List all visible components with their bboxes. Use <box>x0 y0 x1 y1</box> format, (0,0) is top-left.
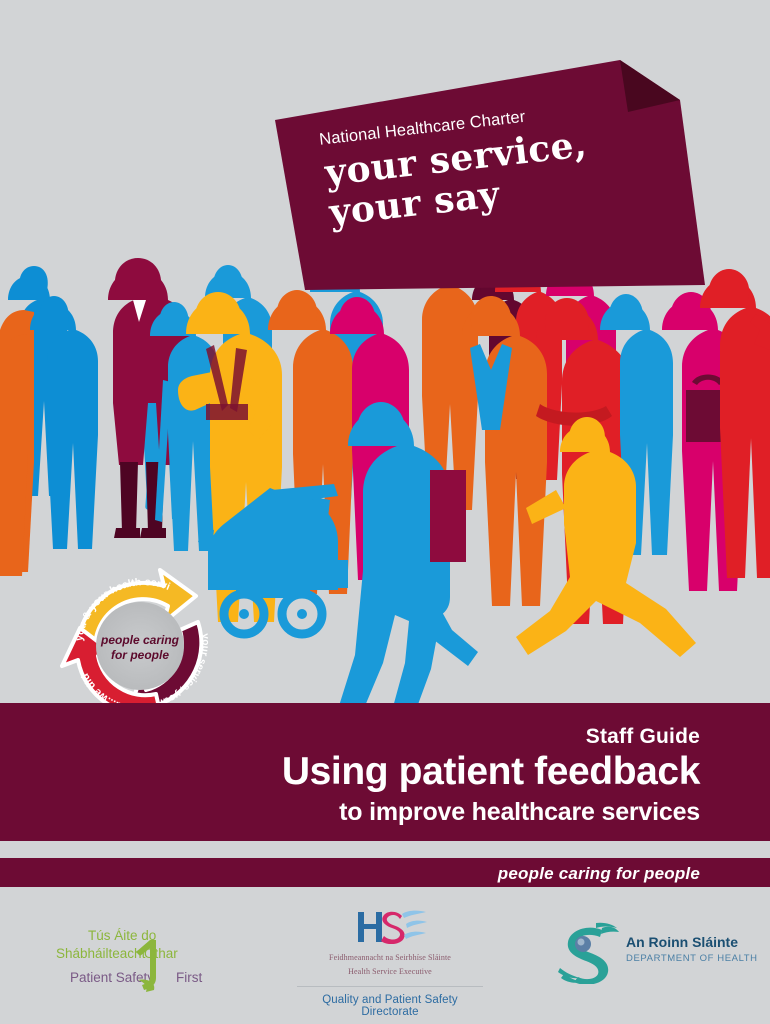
department-of-health-logo: An Roinn Sláinte DEPARTMENT OF HEALTH <box>558 920 748 990</box>
footer-logos: Tús Áite do Shábháilteacht Othar Patient… <box>0 900 770 1024</box>
hse-irish-name: Feidhmeannacht na Seirbhíse Sláinte <box>295 953 485 963</box>
hse-english-name: Health Service Executive <box>295 967 485 977</box>
hse-mark-icon <box>352 908 428 944</box>
hse-divider <box>297 986 483 987</box>
doh-english-name: DEPARTMENT OF HEALTH <box>626 953 758 964</box>
people-caring-cycle-logo: you & your health service your service, … <box>56 562 236 722</box>
psf-english-line2: First <box>176 970 202 985</box>
cycle-center-line2: for people <box>111 648 169 662</box>
kicker-staff-guide: Staff Guide <box>586 725 700 749</box>
hse-logo: Feidhmeannacht na Seirbhíse Sláinte Heal… <box>295 908 485 1013</box>
tagline-text: people caring for people <box>498 864 700 884</box>
doh-mark-icon <box>558 922 620 984</box>
publication-cover: National Healthcare Charter your service… <box>0 0 770 1024</box>
page-title: Using patient feedback <box>282 750 700 794</box>
psf-numeral-one-icon <box>132 938 172 993</box>
patient-safety-first-logo: Tús Áite do Shábháilteacht Othar Patient… <box>56 920 246 990</box>
doh-irish-name: An Roinn Sláinte <box>626 934 738 950</box>
cycle-center-line1: people caring <box>100 633 180 647</box>
charter-poster: National Healthcare Charter your service… <box>250 60 720 290</box>
page-subtitle: to improve healthcare services <box>339 798 700 827</box>
hse-directorate: Quality and Patient Safety Directorate <box>295 994 485 1018</box>
